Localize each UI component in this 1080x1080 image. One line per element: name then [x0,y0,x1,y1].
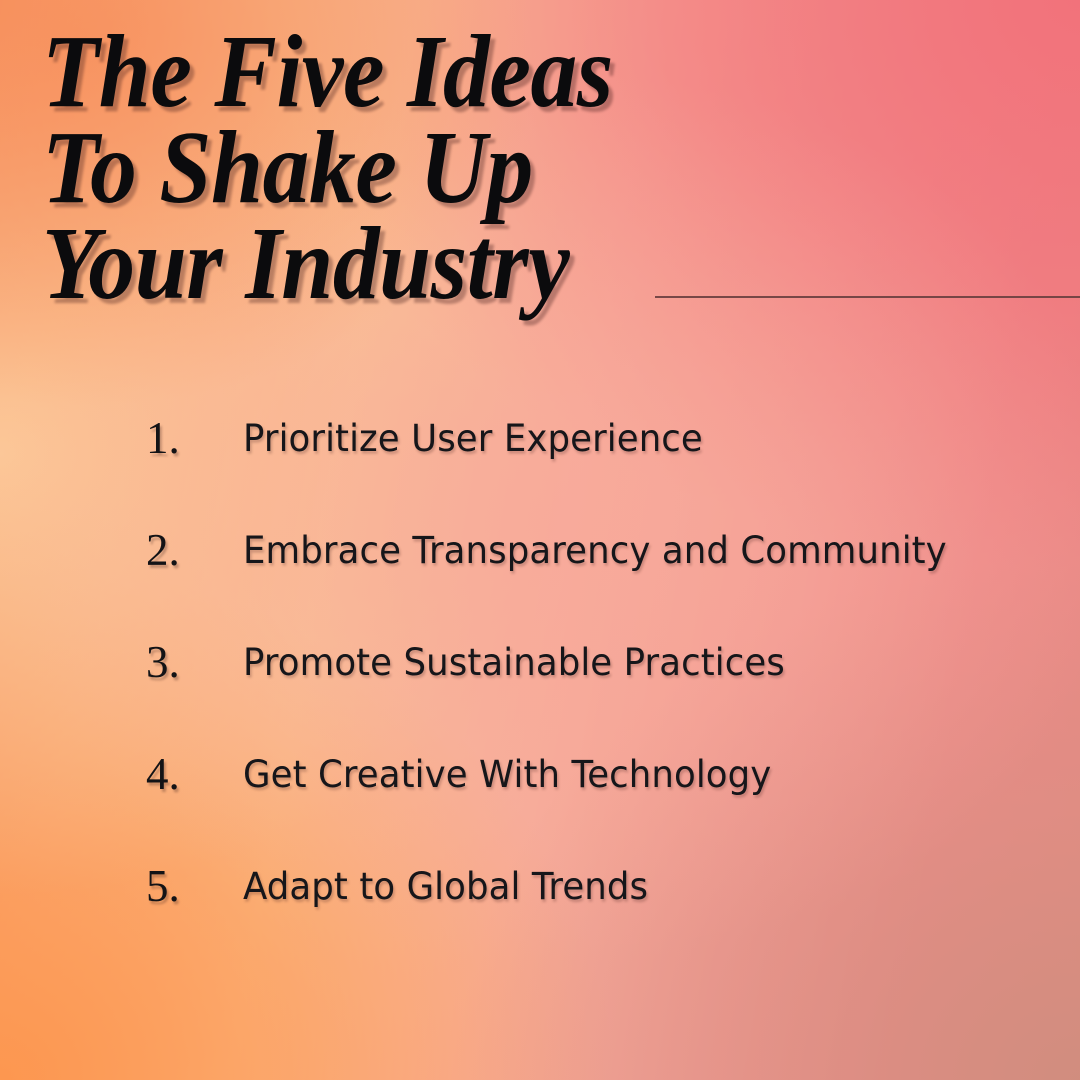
poster-content: The Five Ideas To Shake Up Your Industry… [0,0,1080,1080]
list-item-label: Embrace Transparency and Community [243,530,947,572]
ideas-list: 1. Prioritize User Experience 2. Embrace… [0,404,1080,964]
list-item-number: 1. [146,416,226,461]
poster-title: The Five Ideas To Shake Up Your Industry [42,24,1052,312]
title-line-2: To Shake Up [42,120,951,216]
list-item-label: Adapt to Global Trends [243,866,648,908]
list-item: 4. Get Creative With Technology [0,740,1080,852]
title-divider-rule [655,296,1080,298]
list-item-number: 2. [146,528,226,573]
list-item: 1. Prioritize User Experience [0,404,1080,516]
list-item-label: Get Creative With Technology [243,754,771,796]
list-item-number: 4. [146,752,226,797]
list-item: 5. Adapt to Global Trends [0,852,1080,964]
list-item-label: Promote Sustainable Practices [243,642,785,684]
list-item: 2. Embrace Transparency and Community [0,516,1080,628]
list-item-number: 5. [146,864,226,909]
poster-canvas: The Five Ideas To Shake Up Your Industry… [0,0,1080,1080]
list-item-label: Prioritize User Experience [243,418,703,460]
list-item-number: 3. [146,640,226,685]
list-item: 3. Promote Sustainable Practices [0,628,1080,740]
title-line-1: The Five Ideas [42,24,951,120]
